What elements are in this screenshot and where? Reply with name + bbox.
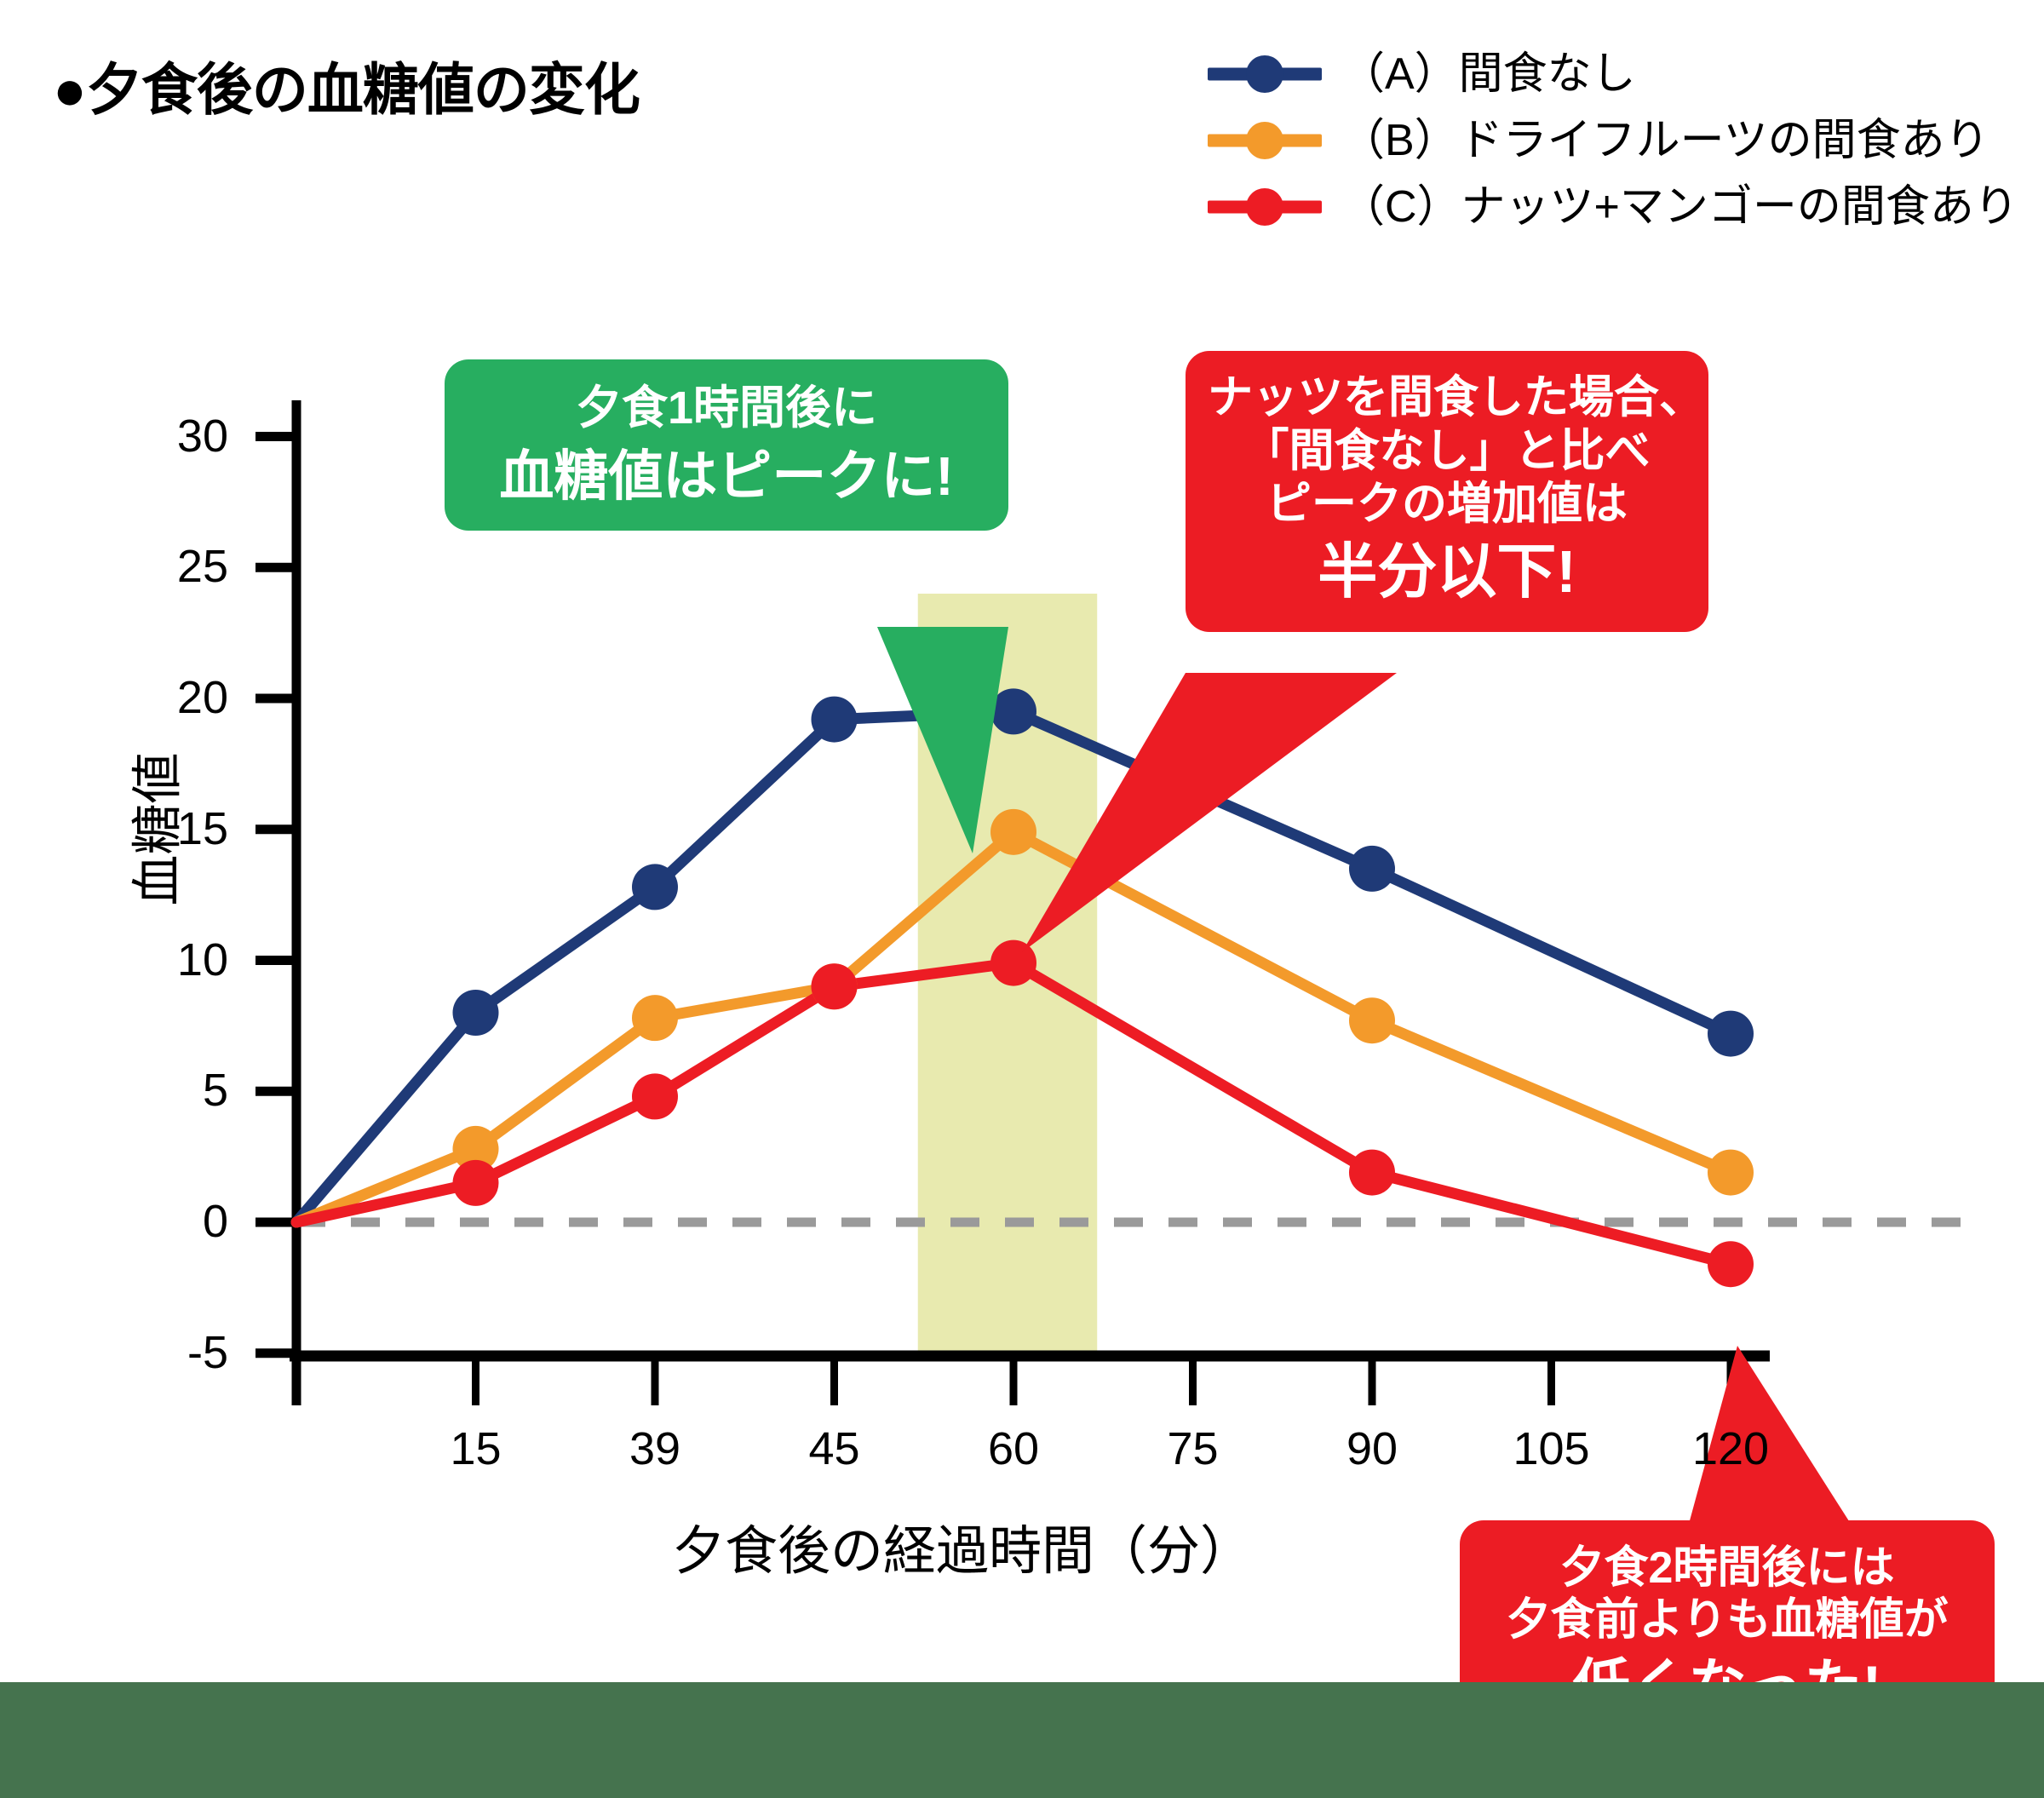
callout-below-baseline-line1: 夕食2時間後には — [1482, 1542, 1972, 1594]
data-point — [812, 963, 858, 1009]
data-point — [1349, 997, 1395, 1043]
x-tick-label: 75 — [1125, 1426, 1261, 1472]
callout-nuts-half-line2: 「間食なし」と比べ — [1208, 425, 1686, 479]
callout-nuts-half-line3: ピークの増加値は — [1208, 478, 1686, 531]
data-point — [1708, 1150, 1754, 1196]
data-point — [632, 864, 678, 910]
infographic-root: ●夕食後の血糖値の変化 （A）間食なし （B）ドライフルーツの間食あり （C）ナ… — [0, 0, 2044, 1798]
callout-peak-time: 夕食1時間後に 血糖値はピークに! — [445, 359, 1008, 531]
x-tick-label: 120 — [1662, 1426, 1799, 1472]
data-point — [1708, 1241, 1754, 1287]
data-point — [1708, 1011, 1754, 1057]
y-tick-label: 25 — [118, 543, 228, 589]
x-tick-label: 60 — [945, 1426, 1082, 1472]
data-point — [453, 1160, 499, 1206]
x-tick-label: 45 — [766, 1426, 903, 1472]
data-point — [1349, 1150, 1395, 1196]
x-axis-title: 夕食後の経過時間（分） — [596, 1508, 1329, 1584]
y-tick-label: 30 — [118, 413, 228, 459]
x-tick-label: 15 — [408, 1426, 544, 1472]
callout-below-baseline-line2: 夕食前よりも血糖値が — [1482, 1594, 1972, 1646]
data-point — [453, 990, 499, 1036]
x-tick-label: 105 — [1484, 1426, 1620, 1472]
callout-nuts-half: ナッツを間食した場合、 「間食なし」と比べ ピークの増加値は 半分以下! — [1186, 351, 1708, 632]
y-tick-label: -5 — [118, 1330, 228, 1376]
footer-bar — [0, 1682, 2044, 1798]
data-point — [632, 1073, 678, 1119]
callout-peak-time-line2: 血糖値はピークに! — [470, 445, 983, 509]
callout-peak-time-line1: 夕食1時間後に — [470, 382, 983, 436]
callout-nuts-half-line4: 半分以下! — [1208, 537, 1686, 607]
data-point — [990, 940, 1036, 986]
x-tick-label: 39 — [587, 1426, 723, 1472]
x-tick-label: 90 — [1304, 1426, 1440, 1472]
data-point — [812, 697, 858, 743]
callout-nuts-half-line1: ナッツを間食した場合、 — [1208, 371, 1686, 425]
data-point — [632, 995, 678, 1041]
data-point — [1349, 846, 1395, 892]
y-tick-label: 5 — [118, 1067, 228, 1113]
y-tick-label: 0 — [118, 1198, 228, 1244]
y-axis-title: 血糖値 — [117, 651, 191, 1008]
data-point — [990, 809, 1036, 855]
